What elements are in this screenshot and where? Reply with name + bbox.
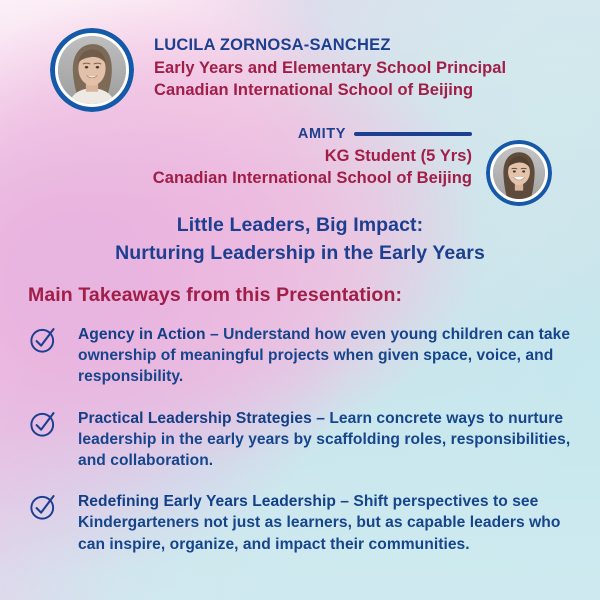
check-circle-icon [28,325,58,355]
list-item-lead: Practical Leadership Strategies [78,410,312,427]
speaker-role: KG Student (5 Yrs) [153,145,472,167]
speaker-organization: Canadian International School of Beijing [154,79,506,101]
check-circle-icon [28,409,58,439]
speaker-name: LUCILA ZORNOSA-SANCHEZ [154,35,506,57]
avatar-ring [486,140,552,206]
list-item-text: Practical Leadership Strategies – Learn … [78,408,576,472]
takeaways-list: Agency in Action – Understand how even y… [28,324,576,575]
promo-card: LUCILA ZORNOSA-SANCHEZ Early Years and E… [0,0,600,600]
list-item: Practical Leadership Strategies – Learn … [28,408,576,472]
speaker-block-primary: LUCILA ZORNOSA-SANCHEZ Early Years and E… [50,28,506,112]
session-title-line-2: Nurturing Leadership in the Early Years [0,240,600,268]
speaker-details: AMITY KG Student (5 Yrs) Canadian Intern… [153,126,472,190]
session-title: Little Leaders, Big Impact: Nurturing Le… [0,212,600,267]
speaker-role: Early Years and Elementary School Princi… [154,57,506,79]
speaker-organization: Canadian International School of Beijing [153,167,472,189]
speaker-name: AMITY [298,126,346,142]
list-item-text: Agency in Action – Understand how even y… [78,324,576,388]
list-item-lead: Agency in Action [78,326,206,343]
speaker-name-row: AMITY [153,126,472,142]
list-item: Redefining Early Years Leadership – Shif… [28,491,576,555]
name-underline-rule [354,132,472,136]
list-item-text: Redefining Early Years Leadership – Shif… [78,491,576,555]
avatar-ring [50,28,134,112]
list-item: Agency in Action – Understand how even y… [28,324,576,388]
speaker-block-secondary: AMITY KG Student (5 Yrs) Canadian Intern… [153,126,552,206]
speaker-avatar-lucila [50,28,134,112]
takeaways-heading: Main Takeaways from this Presentation: [28,284,402,307]
check-circle-icon [28,492,58,522]
speaker-details: LUCILA ZORNOSA-SANCHEZ Early Years and E… [154,35,506,102]
session-title-line-1: Little Leaders, Big Impact: [0,212,600,240]
list-item-lead: Redefining Early Years Leadership [78,493,336,510]
speaker-avatar-amity [486,140,552,206]
